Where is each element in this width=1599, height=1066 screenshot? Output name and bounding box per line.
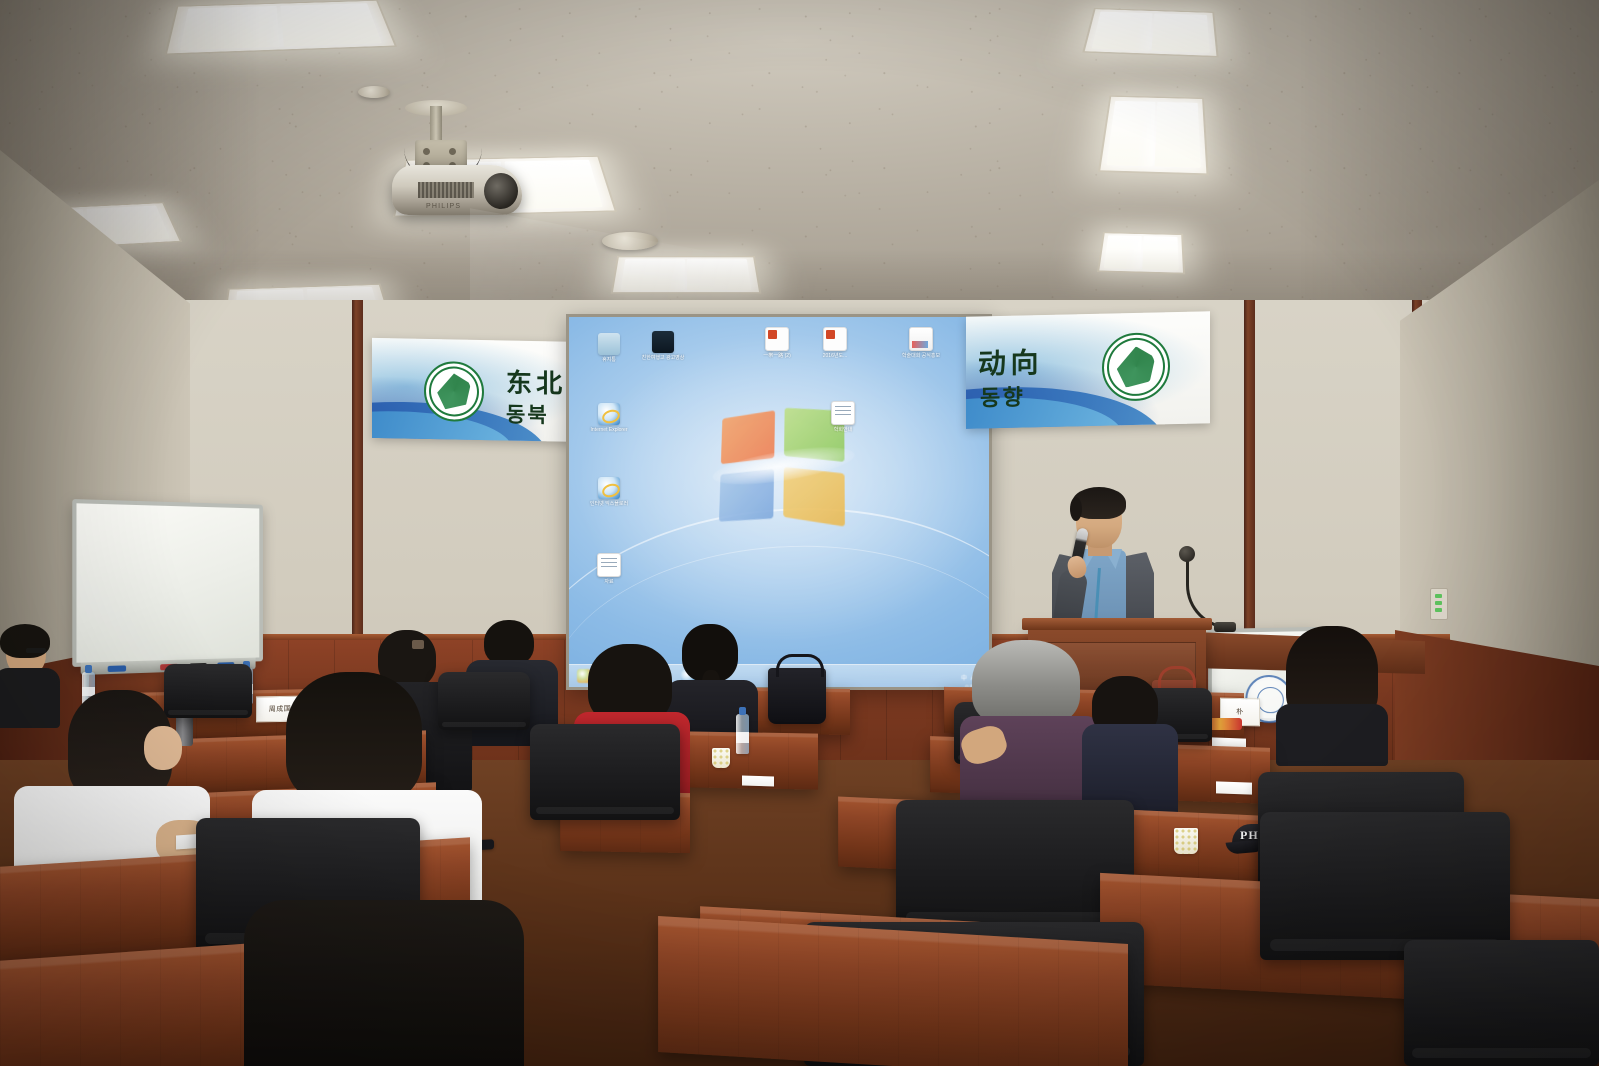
desktop-icon-ppt-two[interactable]: 2016년도... [813, 327, 857, 359]
presenter-hair [1072, 487, 1126, 519]
desktop-icon-ppt-one[interactable]: 一帯一路 (2) [755, 327, 799, 359]
wall-trim-2 [1244, 300, 1255, 648]
conference-room-photo: PHILIPS 东北 동북 [0, 0, 1599, 1066]
internet-explorer-icon [598, 477, 620, 499]
paper-sheet [742, 775, 774, 786]
projection-screen[interactable]: 휴지통 친한여행고 광고영상 一帯一路 (2) 2016년도... 학술대회 공… [569, 317, 989, 687]
projector-lens [484, 173, 518, 209]
banner-right-chinese: 动向 [978, 341, 1043, 382]
black-handbag [768, 668, 826, 724]
light-switch-panel[interactable] [1430, 588, 1448, 620]
cap-logo-text: PH [1240, 828, 1259, 843]
desktop-icon-ie-2[interactable]: 인터넷 익스플로러 [587, 477, 631, 507]
image-file-icon [909, 327, 933, 351]
chair-empty[interactable] [530, 724, 680, 820]
banner-left-korean: 동북 [506, 398, 549, 429]
desktop-icon-image-file[interactable]: 학술대회 공식홍보 [899, 327, 943, 359]
projector-brand-label: PHILIPS [426, 203, 461, 210]
banner-right-korean: 동향 [980, 379, 1025, 412]
wall-trim-1 [352, 300, 363, 650]
chair-empty[interactable] [164, 664, 252, 718]
banner-right: 动向 동향 [966, 311, 1210, 429]
desktop-icon-media-file[interactable]: 친한여행고 광고영상 [641, 331, 685, 361]
desktop-icon-recycle-bin[interactable]: 휴지통 [587, 333, 631, 363]
chair-empty[interactable] [1404, 940, 1599, 1066]
paper-cup [1174, 828, 1198, 854]
ceiling-light-7 [1098, 95, 1209, 175]
paper-sheet [1216, 781, 1252, 794]
university-emblem-left [424, 361, 484, 422]
ceiling-light-6 [1082, 8, 1219, 57]
banner-left-chinese: 东北 [506, 362, 566, 400]
document-file-icon [831, 401, 855, 425]
smoke-detector-1 [358, 86, 390, 98]
banner-left: 东北 동북 [372, 338, 590, 442]
water-bottle [736, 714, 749, 754]
paper-cup [712, 748, 730, 768]
chair-empty[interactable] [438, 672, 530, 730]
powerpoint-file-icon [823, 327, 847, 351]
recycle-bin-icon [598, 333, 620, 355]
powerpoint-file-icon [765, 327, 789, 351]
desktop-icon-folder-file[interactable]: 자료 [587, 553, 631, 585]
ceiling-speaker [602, 232, 658, 250]
media-file-icon [652, 331, 674, 353]
document-file-icon [597, 553, 621, 577]
chair-empty[interactable] [1260, 812, 1510, 960]
desktop-icon-doc-file[interactable]: 학회안내 [821, 401, 865, 433]
desktop-icon-ie-1[interactable]: Internet Explorer [587, 403, 631, 433]
internet-explorer-icon [598, 403, 620, 425]
ceiling [0, 0, 1599, 330]
chair-empty[interactable] [896, 800, 1134, 930]
projection-screen-frame: 휴지통 친한여행고 광고영상 一帯一路 (2) 2016년도... 학술대회 공… [566, 314, 992, 690]
whiteboard-left[interactable] [72, 499, 263, 667]
ceiling-projector: PHILIPS [392, 165, 522, 215]
